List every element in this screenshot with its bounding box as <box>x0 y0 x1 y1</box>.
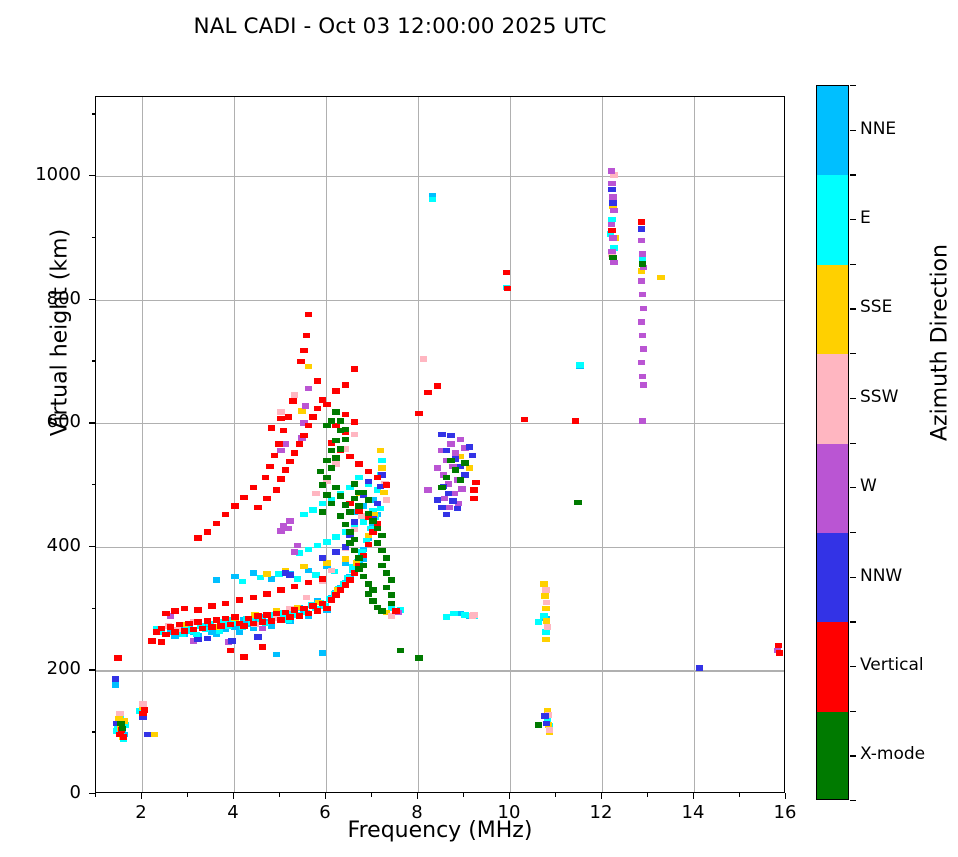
data-point <box>213 617 220 623</box>
y-tick-label: 200 <box>0 658 81 679</box>
colorbar-tick <box>850 130 856 131</box>
data-point <box>355 508 362 514</box>
data-point <box>228 638 235 644</box>
data-point <box>461 612 468 618</box>
colorbar-tick <box>850 353 856 354</box>
data-point <box>254 634 261 640</box>
gridline-horizontal <box>96 547 784 548</box>
data-point <box>351 432 358 438</box>
data-point <box>378 533 385 539</box>
gridline-vertical <box>694 97 695 792</box>
data-point <box>337 587 344 593</box>
data-point <box>397 648 404 654</box>
colorbar-tick <box>850 666 856 667</box>
data-point <box>346 454 353 460</box>
data-point <box>112 676 119 682</box>
data-point <box>286 572 293 578</box>
data-point <box>285 414 292 420</box>
gridline-horizontal <box>96 176 784 177</box>
colorbar-tick <box>850 711 856 712</box>
y-tick <box>89 669 95 670</box>
y-tick-minor <box>92 484 96 485</box>
data-point <box>328 418 335 424</box>
data-point <box>332 592 339 598</box>
y-axis-label: Virtual height (km) <box>48 173 73 493</box>
data-point <box>609 194 616 200</box>
data-point <box>319 482 326 488</box>
data-point <box>204 618 211 624</box>
data-point <box>342 412 349 418</box>
data-point <box>181 606 188 612</box>
data-point <box>332 455 339 461</box>
data-point <box>259 644 266 650</box>
data-point <box>194 619 201 625</box>
data-point <box>608 187 615 193</box>
data-point <box>294 543 301 549</box>
data-point <box>572 418 579 424</box>
data-point <box>355 555 362 561</box>
data-point <box>521 417 528 423</box>
data-point <box>286 518 293 524</box>
data-point <box>542 587 549 593</box>
x-tick-minor <box>279 793 280 797</box>
data-point <box>388 577 395 583</box>
data-point <box>222 512 229 518</box>
data-point <box>424 487 431 493</box>
y-tick <box>89 299 95 300</box>
data-point <box>346 509 353 515</box>
data-point <box>610 208 617 214</box>
colorbar-segment[interactable] <box>817 622 848 712</box>
data-point <box>447 433 454 439</box>
data-point <box>544 624 551 630</box>
data-point <box>380 490 387 496</box>
data-point <box>434 383 441 389</box>
data-point <box>443 614 450 620</box>
data-point <box>429 197 436 203</box>
data-point <box>378 548 385 554</box>
x-tick <box>325 793 326 799</box>
colorbar-label-sse: SSE <box>860 297 892 317</box>
data-point <box>454 506 461 512</box>
data-point <box>609 200 616 206</box>
data-point <box>638 238 645 244</box>
data-point <box>378 563 385 569</box>
data-point <box>291 584 298 590</box>
data-point <box>374 526 381 532</box>
data-point <box>305 364 312 370</box>
x-tick <box>417 793 418 799</box>
data-point <box>314 406 321 412</box>
data-point <box>470 487 477 493</box>
data-point <box>309 507 316 513</box>
colorbar-tick <box>850 85 856 86</box>
data-point <box>540 581 547 587</box>
data-point <box>263 571 270 577</box>
data-point <box>638 226 645 232</box>
gridline-vertical <box>602 97 603 792</box>
colorbar-segment[interactable] <box>817 712 848 800</box>
colorbar-label-ssw: SSW <box>860 387 898 407</box>
y-tick <box>89 546 95 547</box>
data-point <box>640 306 647 312</box>
data-point <box>236 629 243 635</box>
data-point <box>150 732 157 738</box>
data-point <box>250 621 257 627</box>
data-point <box>119 726 126 732</box>
colorbar[interactable] <box>816 85 849 800</box>
data-point <box>268 576 275 582</box>
data-point <box>388 592 395 598</box>
data-point <box>300 433 307 439</box>
data-point <box>543 600 550 606</box>
y-tick-label: 0 <box>0 782 81 803</box>
data-point <box>254 613 261 619</box>
data-point <box>277 416 284 422</box>
data-point <box>240 623 247 629</box>
data-point <box>457 477 464 483</box>
data-point <box>608 228 615 234</box>
data-point <box>535 722 542 728</box>
data-point <box>285 526 292 532</box>
y-tick <box>89 793 95 794</box>
colorbar-segment[interactable] <box>817 444 848 534</box>
x-axis-label: Frequency (MHz) <box>95 818 785 843</box>
data-point <box>231 503 238 509</box>
data-point <box>275 441 282 447</box>
y-tick-minor <box>92 237 96 238</box>
data-point <box>365 479 372 485</box>
data-point <box>273 652 280 658</box>
colorbar-segment[interactable] <box>817 175 848 265</box>
data-point <box>268 618 275 624</box>
data-point <box>337 493 344 499</box>
data-point <box>452 450 459 456</box>
figure-root: NAL CADI - Oct 03 12:00:00 2025 UTC 2468… <box>0 0 958 857</box>
data-point <box>268 623 275 629</box>
data-point <box>360 519 367 525</box>
x-tick <box>233 793 234 799</box>
chart-title: NAL CADI - Oct 03 12:00:00 2025 UTC <box>0 14 800 39</box>
colorbar-tick <box>850 577 856 578</box>
x-tick-minor <box>95 793 96 797</box>
data-point <box>374 475 381 481</box>
data-point <box>775 643 782 649</box>
data-point <box>574 500 581 506</box>
data-point <box>542 629 549 635</box>
data-point <box>294 576 301 582</box>
data-point <box>447 458 454 464</box>
data-point <box>277 409 284 415</box>
y-tick-minor <box>92 608 96 609</box>
data-point <box>204 636 211 642</box>
data-point <box>420 356 427 362</box>
data-point <box>378 458 385 464</box>
data-point <box>332 485 339 491</box>
x-tick <box>141 793 142 799</box>
data-point <box>434 497 441 503</box>
x-tick <box>693 793 694 799</box>
data-point <box>263 612 270 618</box>
data-point <box>610 260 617 266</box>
data-point <box>112 682 119 688</box>
data-point <box>213 577 220 583</box>
data-point <box>139 701 146 707</box>
colorbar-tick <box>850 219 856 220</box>
data-point <box>263 496 270 502</box>
colorbar-tick <box>850 443 856 444</box>
data-point <box>638 219 645 225</box>
data-point <box>277 448 284 454</box>
x-tick <box>509 793 510 799</box>
colorbar-segment[interactable] <box>817 533 848 623</box>
data-point <box>458 486 465 492</box>
y-tick <box>89 175 95 176</box>
data-point <box>378 608 385 614</box>
data-point <box>503 270 510 276</box>
data-point <box>438 432 445 438</box>
data-point <box>171 608 178 614</box>
data-point <box>323 539 330 545</box>
data-point <box>319 576 326 582</box>
data-point <box>323 402 330 408</box>
data-point <box>323 458 330 464</box>
data-point <box>312 491 319 497</box>
data-point <box>332 388 339 394</box>
data-point <box>314 608 321 614</box>
data-point <box>300 564 307 570</box>
x-tick-minor <box>555 793 556 797</box>
data-point <box>351 519 358 525</box>
colorbar-title: Azimuth Direction <box>928 193 953 493</box>
data-point <box>445 491 452 497</box>
data-point <box>369 598 376 604</box>
x-tick <box>601 793 602 799</box>
data-point <box>300 512 307 518</box>
data-point <box>369 518 376 524</box>
colorbar-tick <box>850 621 856 622</box>
data-point <box>342 427 349 433</box>
data-point <box>176 622 183 628</box>
data-point <box>365 542 372 548</box>
data-point <box>273 487 280 493</box>
gridline-horizontal <box>96 670 784 671</box>
data-point <box>443 448 450 454</box>
data-point <box>388 613 395 619</box>
data-point <box>608 168 615 174</box>
data-point <box>542 637 549 643</box>
data-point <box>305 423 312 429</box>
data-point <box>351 366 358 372</box>
data-point <box>378 465 385 471</box>
data-point <box>415 411 422 417</box>
data-point <box>449 498 456 504</box>
data-point <box>277 587 284 593</box>
data-point <box>141 707 148 713</box>
data-point <box>250 570 257 576</box>
data-point <box>377 506 384 512</box>
data-point <box>546 727 553 733</box>
gridline-horizontal <box>96 423 784 424</box>
data-point <box>639 261 646 267</box>
data-point <box>438 505 445 511</box>
data-point <box>355 475 362 481</box>
data-point <box>434 465 441 471</box>
data-point <box>504 286 511 292</box>
data-point <box>543 618 550 624</box>
data-point <box>639 292 646 298</box>
data-point <box>541 713 548 719</box>
data-point <box>328 465 335 471</box>
data-point <box>328 597 335 603</box>
data-point <box>291 549 298 555</box>
colorbar-label-nne: NNE <box>860 119 896 139</box>
data-point <box>346 577 353 583</box>
data-point <box>222 601 229 607</box>
data-point <box>305 312 312 318</box>
data-point <box>392 608 399 614</box>
data-point <box>319 555 326 561</box>
data-point <box>148 638 155 644</box>
data-point <box>415 655 422 661</box>
data-point <box>323 475 330 481</box>
data-point <box>250 595 257 601</box>
data-point <box>446 505 453 511</box>
x-tick <box>785 793 786 799</box>
data-point <box>543 721 550 727</box>
data-point <box>377 448 384 454</box>
data-point <box>639 418 646 424</box>
data-point <box>469 453 476 459</box>
data-point <box>305 580 312 586</box>
data-point <box>298 408 305 414</box>
data-point <box>286 459 293 465</box>
data-point <box>342 522 349 528</box>
data-point <box>332 534 339 540</box>
data-point <box>639 374 646 380</box>
data-point <box>282 467 289 473</box>
data-point <box>266 464 273 470</box>
colorbar-label-e: E <box>860 208 871 228</box>
data-point <box>302 403 309 409</box>
data-point <box>259 626 266 632</box>
x-tick-minor <box>647 793 648 797</box>
data-point <box>194 607 201 613</box>
data-point <box>171 629 178 635</box>
colorbar-segment[interactable] <box>817 354 848 444</box>
data-point <box>452 467 459 473</box>
data-point <box>116 711 123 717</box>
data-point <box>240 495 247 501</box>
data-point <box>576 362 583 368</box>
data-point <box>342 437 349 443</box>
x-tick-minor <box>371 793 372 797</box>
colorbar-segment[interactable] <box>817 86 848 176</box>
data-point <box>639 251 646 257</box>
data-point <box>319 650 326 656</box>
data-point <box>289 398 296 404</box>
data-point <box>608 249 615 255</box>
data-point <box>114 655 121 661</box>
data-point <box>303 333 310 339</box>
data-point <box>541 593 548 599</box>
data-point <box>217 623 224 629</box>
x-tick-minor <box>463 793 464 797</box>
colorbar-segment[interactable] <box>817 265 848 355</box>
data-point <box>332 549 339 555</box>
data-point <box>360 490 367 496</box>
colorbar-tick <box>850 174 856 175</box>
data-point <box>296 441 303 447</box>
data-point <box>346 529 353 535</box>
data-point <box>450 611 457 617</box>
data-point <box>277 617 284 623</box>
data-point <box>374 540 381 546</box>
data-point <box>239 579 246 585</box>
data-point <box>360 574 367 580</box>
data-point <box>542 606 549 612</box>
data-point <box>365 581 372 587</box>
data-point <box>342 582 349 588</box>
data-point <box>328 501 335 507</box>
data-point <box>185 621 192 627</box>
data-point <box>263 591 270 597</box>
gridline-vertical <box>234 97 235 792</box>
data-point <box>282 441 289 447</box>
data-point <box>443 512 450 518</box>
data-point <box>355 461 362 467</box>
data-point <box>609 255 616 261</box>
data-point <box>162 611 169 617</box>
data-point <box>640 382 647 388</box>
colorbar-tick <box>850 264 856 265</box>
gridline-vertical <box>142 97 143 792</box>
data-point <box>657 275 664 281</box>
data-point <box>303 595 310 601</box>
plot-area[interactable] <box>95 96 785 793</box>
data-point <box>351 496 358 502</box>
data-point <box>227 622 234 628</box>
data-point <box>240 654 247 660</box>
data-point <box>470 496 477 502</box>
data-point <box>342 502 349 508</box>
data-point <box>424 390 431 396</box>
y-tick-label: 400 <box>0 535 81 556</box>
data-point <box>268 425 275 431</box>
data-point <box>447 441 454 447</box>
data-point <box>461 460 468 466</box>
data-point <box>608 181 615 187</box>
data-point <box>441 496 448 502</box>
data-point <box>466 444 473 450</box>
colorbar-tick <box>850 487 856 488</box>
data-point <box>383 585 390 591</box>
data-point <box>319 509 326 515</box>
data-point <box>262 475 269 481</box>
data-point <box>535 619 542 625</box>
data-point <box>259 619 266 625</box>
data-point <box>351 548 358 554</box>
data-point <box>638 278 645 284</box>
data-point <box>323 423 330 429</box>
colorbar-label-x-mode: X-mode <box>860 744 925 764</box>
data-point <box>383 482 390 488</box>
data-point <box>457 437 464 443</box>
data-point <box>346 540 353 546</box>
data-point <box>332 409 339 415</box>
data-point <box>208 603 215 609</box>
data-point <box>277 528 284 534</box>
